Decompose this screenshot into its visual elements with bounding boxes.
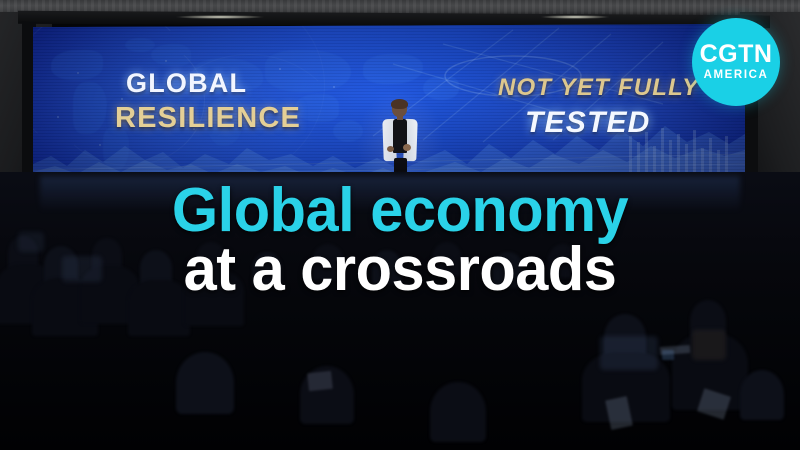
cgtn-america-logo: CGTN AMERICA (692, 18, 780, 106)
screen-text-tested: TESTED (525, 108, 651, 138)
frame-light-glint (540, 15, 610, 19)
screen-text-not-yet-fully: NOT YET FULLY (498, 76, 699, 100)
floor-light-sheen (40, 176, 740, 212)
speaker-hand-right (403, 144, 411, 151)
speaker-hair (391, 99, 408, 109)
frame-light-glint (175, 15, 265, 19)
logo-cgtn-text: CGTN (700, 42, 773, 67)
screen-text-resilience: RESILIENCE (115, 104, 301, 133)
screen-text-global: GLOBAL (126, 70, 247, 97)
video-frame: GLOBAL RESILIENCE NOT YET FULLY TESTED (0, 0, 800, 450)
logo-america-text: AMERICA (704, 70, 769, 82)
speaker-hand-left (387, 146, 394, 152)
speaker-on-stage (372, 100, 426, 182)
